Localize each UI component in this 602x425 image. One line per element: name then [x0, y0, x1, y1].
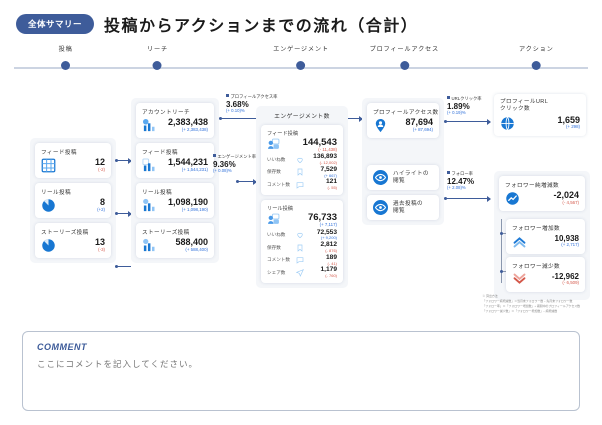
globe-icon — [500, 116, 515, 131]
share-icon — [296, 269, 304, 277]
card-title: ストーリーズ投稿 — [41, 228, 105, 236]
metric-delta: (- 55) — [307, 186, 337, 190]
profile-access-card[interactable]: プロフィールアクセス数 87,694 (+ 87,694) — [367, 103, 439, 138]
metric-delta: (+ 9,200) — [307, 236, 337, 240]
bar-chart-icon — [142, 118, 157, 133]
post-card-feed[interactable]: フィード投稿 12 (-2) — [35, 143, 111, 178]
bar-chart-icon — [142, 158, 157, 173]
heart-icon — [296, 156, 304, 164]
engagement-bubble-icon — [267, 138, 280, 151]
card-title: フィード投稿 — [41, 148, 105, 156]
engagement-heading: エンゲージメント数 — [261, 111, 343, 120]
pie-icon — [41, 238, 56, 253]
summary-badge: 全体サマリー — [16, 14, 94, 34]
metric-delta: (-3) — [95, 248, 105, 253]
metric-delta: (+ 7,117) — [284, 223, 337, 228]
follower-group: フォロワー純増減数 -2,024 (- 4,567) フォロワー増加数 — [494, 171, 590, 300]
engagement-column: エンゲージメント数 フィード投稿 144,543 (- 11,4 — [256, 106, 348, 288]
timeline-dot-icon — [400, 61, 409, 70]
engagement-panel: エンゲージメント数 フィード投稿 144,543 (- 11,4 — [256, 106, 348, 288]
connector-dot — [115, 265, 118, 268]
post-card-reel[interactable]: リール投稿 8 (+2) — [35, 183, 111, 218]
bar-chart-icon — [142, 198, 157, 213]
bookmark-icon — [296, 244, 304, 252]
reach-card-stories[interactable]: ストーリーズ投稿 588,400 (+ 588,400) — [136, 223, 214, 258]
connector-dot — [115, 212, 118, 215]
metric-delta: (+ 1,098,190) — [168, 208, 208, 213]
trend-icon — [505, 191, 520, 206]
metric-label: コメント数 — [267, 257, 293, 263]
reach-group: アカウントリーチ 2,383,438 (+ 2,383,438) フィード投稿 — [131, 98, 219, 263]
timeline-stage-engagement[interactable]: エンゲージメント — [273, 44, 329, 70]
comment-box[interactable]: COMMENT — [22, 331, 580, 411]
eye-icon — [373, 200, 388, 215]
card-title: フォロワー純増減数 — [505, 181, 579, 189]
metric-delta: (- 4,567) — [553, 201, 579, 206]
page-header: 全体サマリー 投稿からアクションまでの流れ（合計） — [0, 0, 602, 36]
timeline-dot-icon — [532, 61, 541, 70]
metric-delta: (- 6,509) — [552, 281, 579, 286]
pie-icon — [41, 198, 56, 213]
card-title: ハイライトの — [393, 171, 429, 178]
eye-icon — [373, 170, 388, 185]
profile-access-group: プロフィールアクセス数 87,694 (+ 87,694) — [362, 98, 444, 225]
metric-row-likes: いいね数 72,553 (+ 9,200) — [267, 230, 337, 241]
card-title: クリック数 — [500, 106, 580, 113]
card-title: 閲覧 — [393, 208, 423, 215]
comment-icon — [296, 181, 304, 189]
bookmark-icon — [296, 168, 304, 176]
profile-highlight-card[interactable]: ハイライトの 閲覧 — [367, 165, 439, 190]
follower-gain-card[interactable]: フォロワー増加数 10,938 (+ 2,717) — [506, 219, 585, 254]
timeline-stage-action[interactable]: アクション — [519, 44, 554, 70]
card-title: ストーリーズ投稿 — [142, 228, 208, 236]
timeline-stage-label: アクション — [519, 44, 554, 53]
connector-dot — [219, 117, 222, 120]
profile-access-column: プロフィールアクセス数 87,694 (+ 87,694) — [362, 98, 444, 225]
card-title: フォロワー減少数 — [512, 262, 579, 270]
connector-profile-follow — [446, 198, 490, 199]
timeline-stage-label: エンゲージメント — [273, 44, 329, 53]
rate-follow: フォロー率 12.47% (+ 2.08)% — [447, 171, 474, 191]
engagement-card-reel[interactable]: リール投稿 76,733 (+ 7,117) — [261, 200, 343, 283]
footnote-line: 「フォロワー減少数」＝「フォロワー増加数」− 純増減数 — [482, 309, 580, 314]
comment-label: COMMENT — [37, 342, 565, 352]
connector-reel — [117, 213, 131, 214]
profile-past-post-card[interactable]: 過去投稿の 閲覧 — [367, 195, 439, 220]
rate-delta: (+ 2.08)% — [447, 186, 474, 191]
card-title: 過去投稿の — [393, 201, 423, 208]
connector-feed — [117, 160, 131, 161]
footnote: ※ 算出方法 「フォロワー純増減数」＝当月末フォロワー数 − 先月末フォロワー数… — [482, 294, 580, 314]
metric-delta: (+ 588,400) — [175, 248, 208, 253]
funnel-timeline: 投稿 リーチ エンゲージメント プロフィールアクセス アクション — [14, 44, 588, 76]
connector-arrow-profile — [348, 118, 362, 119]
metric-delta: (+ 2,383,438) — [168, 128, 208, 133]
metric-delta: (+ 87,694) — [405, 128, 433, 133]
connector-dot — [444, 120, 447, 123]
metric-label: コメント数 — [267, 182, 293, 188]
timeline-stage-post[interactable]: 投稿 — [59, 44, 73, 70]
metric-row-comments: コメント数 121 (- 55) — [267, 179, 337, 190]
post-card-stories[interactable]: ストーリーズ投稿 13 (-3) — [35, 223, 111, 258]
metric-delta: (- 41) — [307, 262, 337, 266]
reach-card-reel[interactable]: リール投稿 1,098,190 (+ 1,098,190) — [136, 183, 214, 218]
timeline-stage-label: 投稿 — [59, 44, 73, 53]
card-title: フォロワー増加数 — [512, 224, 579, 232]
metric-delta: (+2) — [97, 208, 105, 213]
rate-engagement: エンゲージメント率 9.36% (+ 0.08)% — [213, 154, 256, 174]
rate-url-click: URLクリック率 1.89% (+ 0.19)% — [447, 96, 482, 116]
timeline-dot-icon — [297, 61, 306, 70]
metric-row-saves: 保存数 2,812 (- 876) — [267, 242, 337, 253]
metric-row-likes: いいね数 136,893 (- 12,002) — [267, 154, 337, 165]
chevron-down-icon — [512, 272, 527, 287]
follower-loss-card[interactable]: フォロワー減少数 -12,962 (- 6,509) — [506, 257, 585, 292]
bar-chart-icon — [142, 238, 157, 253]
timeline-dot-icon — [61, 61, 70, 70]
follower-loss-card-wrap: フォロワー減少数 -12,962 (- 6,509) — [506, 257, 585, 292]
card-subtitle: リール投稿 — [267, 205, 337, 212]
posts-column: フィード投稿 12 (-2) リール投稿 — [30, 138, 116, 263]
action-url-column: プロフィールURL クリック数 1,659 (+ 298) — [494, 94, 586, 136]
card-title: フィード投稿 — [142, 148, 208, 156]
grid-icon — [41, 158, 56, 173]
posts-group: フィード投稿 12 (-2) リール投稿 — [30, 138, 116, 263]
timeline-stage-label: リーチ — [147, 44, 168, 53]
reach-column: アカウントリーチ 2,383,438 (+ 2,383,438) フィード投稿 — [131, 98, 219, 263]
timeline-dot-icon — [153, 61, 162, 70]
rate-delta: (+ 0.08)% — [213, 169, 256, 174]
metric-delta: (- 876) — [307, 249, 337, 253]
action-follower-column: フォロワー純増減数 -2,024 (- 4,567) フォロワー増加数 — [494, 171, 590, 300]
card-title: リール投稿 — [41, 188, 105, 196]
rate-delta: (+ 0.19)% — [447, 111, 482, 116]
comment-icon — [296, 256, 304, 264]
heart-icon — [296, 231, 304, 239]
reach-card-account[interactable]: アカウントリーチ 2,383,438 (+ 2,383,438) — [136, 103, 214, 138]
metric-delta: (-2) — [95, 168, 105, 173]
card-title: アカウントリーチ — [142, 108, 208, 116]
metric-delta: (- 760) — [307, 274, 337, 278]
timeline-stage-profile-access[interactable]: プロフィールアクセス — [370, 44, 439, 70]
metric-delta: (+ 1,544,231) — [168, 168, 208, 173]
connector-dot — [444, 197, 447, 200]
url-clicks-card[interactable]: プロフィールURL クリック数 1,659 (+ 298) — [494, 94, 586, 136]
connector-reach-engagement — [238, 181, 256, 182]
connector-dot — [236, 180, 239, 183]
card-subtitle: フィード投稿 — [267, 130, 337, 137]
metric-delta: (- 12,002) — [307, 161, 337, 165]
chevron-up-icon — [512, 234, 527, 249]
follower-breakdown-tree: フォロワー増加数 10,938 (+ 2,717) — [499, 219, 585, 295]
comment-input[interactable] — [37, 359, 565, 369]
card-title: リール投稿 — [142, 188, 208, 196]
card-title: プロフィールアクセス数 — [373, 108, 433, 116]
metric-delta: (+ 667) — [307, 174, 337, 178]
metric-label: いいね数 — [267, 157, 293, 163]
connector-profile-url — [446, 121, 490, 122]
timeline-stage-reach[interactable]: リーチ — [147, 44, 168, 70]
metric-label: 保存数 — [267, 169, 293, 175]
funnel-diagram: フィード投稿 12 (-2) リール投稿 — [10, 76, 592, 316]
metric-delta: (+ 2,717) — [555, 243, 579, 248]
reach-card-feed[interactable]: フィード投稿 1,544,231 (+ 1,544,231) — [136, 143, 214, 178]
metric-delta: (+ 298) — [557, 125, 580, 130]
follower-gain-card-wrap: フォロワー増加数 10,938 (+ 2,717) — [506, 219, 585, 254]
connector-dot — [115, 159, 118, 162]
engagement-card-feed[interactable]: フィード投稿 144,543 (- 11,438) — [261, 125, 343, 195]
metric-label: いいね数 — [267, 232, 293, 238]
tree-line — [501, 219, 502, 283]
metric-label: 保存数 — [267, 245, 293, 251]
metric-row-shares: シェア数 1,179 (- 760) — [267, 267, 337, 278]
follower-net-card[interactable]: フォロワー純増減数 -2,024 (- 4,567) — [499, 176, 585, 211]
metric-row-saves: 保存数 7,529 (+ 667) — [267, 167, 337, 178]
pin-person-icon — [373, 118, 388, 133]
timeline-stage-label: プロフィールアクセス — [370, 44, 439, 53]
metric-label: シェア数 — [267, 270, 293, 276]
metric-row-comments: コメント数 189 (- 41) — [267, 255, 337, 266]
page-title: 投稿からアクションまでの流れ（合計） — [104, 12, 418, 36]
engagement-bubble-icon — [267, 213, 280, 226]
metric-delta: (- 11,438) — [284, 148, 337, 153]
card-title: 閲覧 — [393, 178, 429, 185]
